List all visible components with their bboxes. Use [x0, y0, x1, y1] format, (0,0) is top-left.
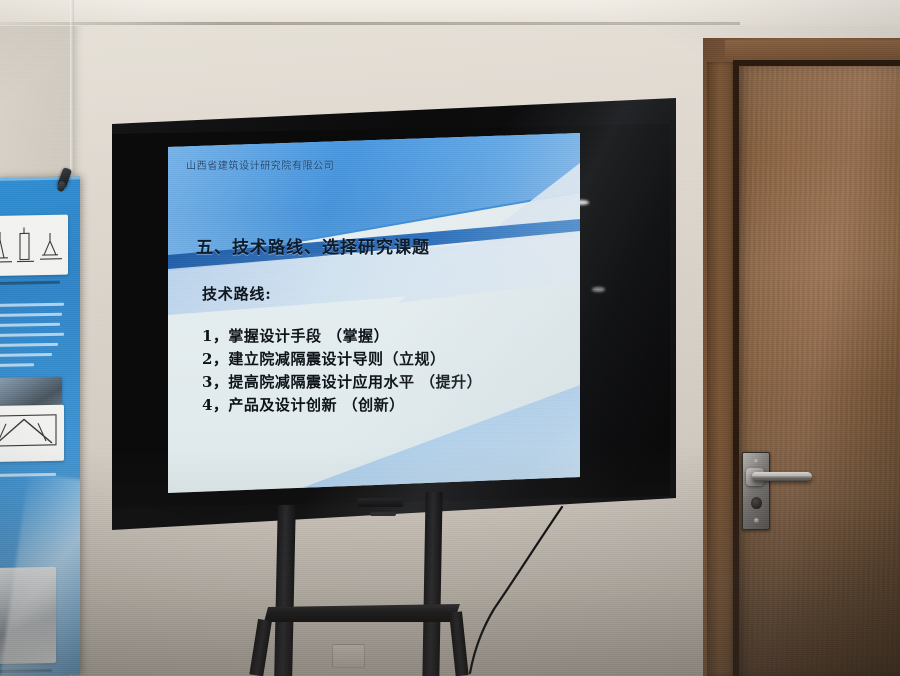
poster-bearing-sketch-icon [0, 215, 68, 277]
slide-company-header: 山西省建筑设计研究院有限公司 [186, 157, 334, 172]
room-scene: 山西省建筑设计研究院有限公司 五、技术路线、选择研究课题 技术路线: 1，掌握设… [0, 0, 900, 676]
slide-bullet-item: 3，提高院减隔震设计应用水平 （提升） [202, 371, 572, 394]
slide-bullet-list: 1，掌握设计手段 （掌握） 2，建立院减隔震设计导则（立规） 3，提高院减隔震设… [202, 325, 572, 417]
ceiling-wall-seam [0, 22, 740, 25]
presentation-slide: 山西省建筑设计研究院有限公司 五、技术路线、选择研究课题 技术路线: 1，掌握设… [168, 133, 580, 493]
lower-wall-shadow [0, 446, 900, 676]
slide-subtitle: 技术路线: [202, 283, 272, 304]
ceiling-light-reflection-icon [592, 287, 605, 292]
slide-bullet-item: 2，建立院减隔震设计导则（立规） [202, 348, 572, 371]
slide-bullet-item: 1，掌握设计手段 （掌握） [202, 325, 572, 348]
poster-diagram-card-top [0, 215, 68, 277]
slide-title: 五、技术路线、选择研究课题 [196, 233, 430, 258]
slide-bullet-item: 4，产品及设计创新 （创新） [202, 394, 572, 417]
